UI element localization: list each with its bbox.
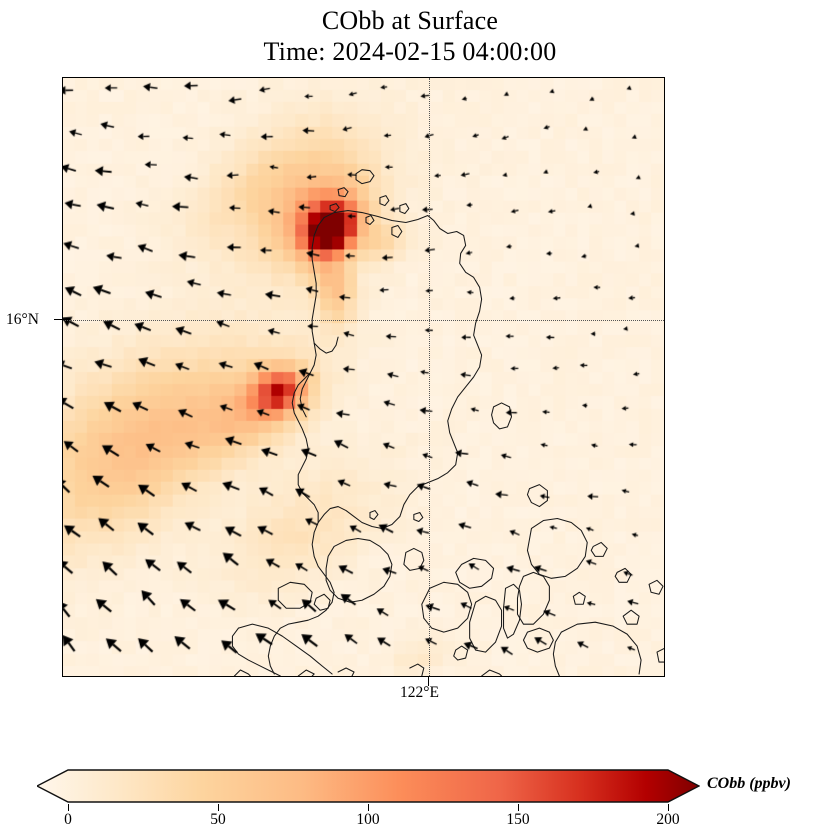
colorbar-tick-150 [518,804,519,811]
colorbar-tick-50 [218,804,219,811]
colorbar-bar[interactable] [37,768,700,804]
colorbar-ticklabel-0: 0 [64,811,72,829]
colorbar-ticklabel-200: 200 [656,811,679,829]
colorbar-gradient [37,768,700,804]
title-line-time: Time: 2024-02-15 04:00:00 [0,37,820,68]
gridline-longitude-122e [429,78,430,676]
colorbar: 0 50 100 150 200 CObb (ppbv) [0,755,820,839]
figure-title: CObb at Surface Time: 2024-02-15 04:00:0… [0,6,820,67]
colorbar-tick-200 [668,804,669,811]
gridline-latitude-16n [63,320,664,321]
colorbar-ticklabel-150: 150 [506,811,529,829]
colorbar-ticklabel-50: 50 [210,811,226,829]
title-line-variable: CObb at Surface [0,6,820,37]
colorbar-tick-0 [68,804,69,811]
colorbar-title: CObb (ppbv) [707,775,791,793]
wind-vector-overlay [63,78,664,676]
map-plot-area[interactable] [62,77,665,677]
colorbar-tick-100 [368,804,369,811]
y-axis-tick-16n [54,319,63,320]
y-axis-label-16n: 16°N [6,311,39,329]
x-axis-label-122e: 122°E [400,684,439,702]
colorbar-ticklabel-100: 100 [356,811,379,829]
